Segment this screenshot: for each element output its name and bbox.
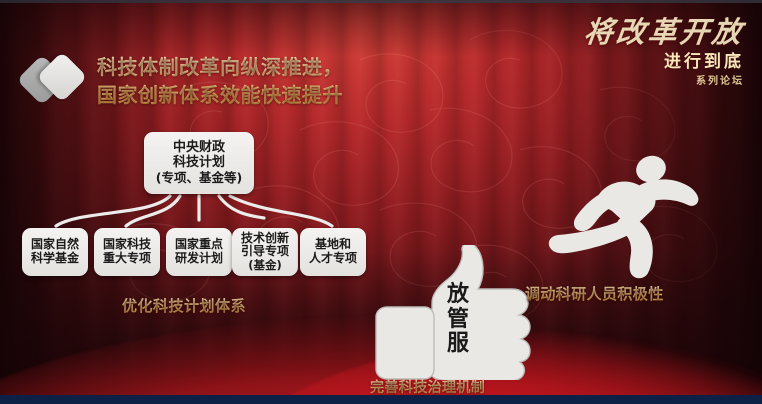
page-title-line-1: 科技体制改革向纵深推进， xyxy=(97,55,343,79)
org-node-leaf-3: 技术创新 引导专项 (基金) xyxy=(232,228,298,276)
thumbs-up-caption: 完善科技治理机制 xyxy=(370,377,485,397)
org-node-leaf-3-line-3: (基金) xyxy=(248,259,282,272)
running-person-icon xyxy=(548,155,708,280)
org-node-leaf-4: 基地和 人才专项 xyxy=(300,228,366,276)
org-node-leaf-1: 国家科技 重大专项 xyxy=(94,228,160,276)
org-chart: 中央财政 科技计划 (专项、基金等) 国家自然 科学基金 国家科技 重大专项 国… xyxy=(0,120,380,320)
program-watermark: 将改革开放 进行到底 系列论坛 xyxy=(524,18,744,100)
org-node-root: 中央财政 科技计划 (专项、基金等) xyxy=(144,132,254,194)
bottom-bar xyxy=(0,395,762,404)
page-title: 科技体制改革向纵深推进， 国家创新体系效能快速提升 xyxy=(97,53,427,110)
watermark-calligraphy: 将改革开放 xyxy=(522,18,746,47)
slide-canvas: 科技体制改革向纵深推进， 国家创新体系效能快速提升 将改革开放 进行到底 系列论… xyxy=(0,0,762,404)
page-title-line-2: 国家创新体系效能快速提升 xyxy=(97,81,427,109)
org-node-root-line-3: (专项、基金等) xyxy=(156,171,242,185)
thumbs-up-group: 放管服 xyxy=(362,245,552,375)
watermark-series-label: 系列论坛 xyxy=(524,77,744,87)
watermark-subtitle: 进行到底 xyxy=(524,54,744,71)
org-chart-caption: 优化科技计划体系 xyxy=(122,295,246,316)
org-node-root-line-2: 科技计划 xyxy=(173,156,225,171)
org-node-leaf-4-line-1: 基地和 xyxy=(315,238,351,252)
runner-group xyxy=(548,155,708,280)
org-node-leaf-2-line-1: 国家重点 xyxy=(175,238,223,252)
org-node-leaf-0-line-1: 国家自然 xyxy=(31,238,79,252)
double-diamond-logo xyxy=(24,52,90,108)
top-edge-line xyxy=(0,0,762,3)
org-node-root-line-1: 中央财政 xyxy=(173,141,225,156)
org-node-leaf-2-line-2: 研发计划 xyxy=(175,252,223,266)
org-node-leaf-2: 国家重点 研发计划 xyxy=(166,228,232,276)
org-node-leaf-1-line-1: 国家科技 xyxy=(103,238,151,252)
org-node-leaf-0: 国家自然 科学基金 xyxy=(22,228,88,276)
thumbs-up-label: 放管服 xyxy=(442,283,474,357)
org-node-leaf-4-line-2: 人才专项 xyxy=(309,252,357,266)
org-node-leaf-0-line-2: 科学基金 xyxy=(31,252,79,266)
org-node-leaf-1-line-2: 重大专项 xyxy=(103,252,151,266)
org-node-leaf-3-line-2: 引导专项 xyxy=(241,245,289,259)
runner-caption: 调动科研人员积极性 xyxy=(525,283,664,304)
